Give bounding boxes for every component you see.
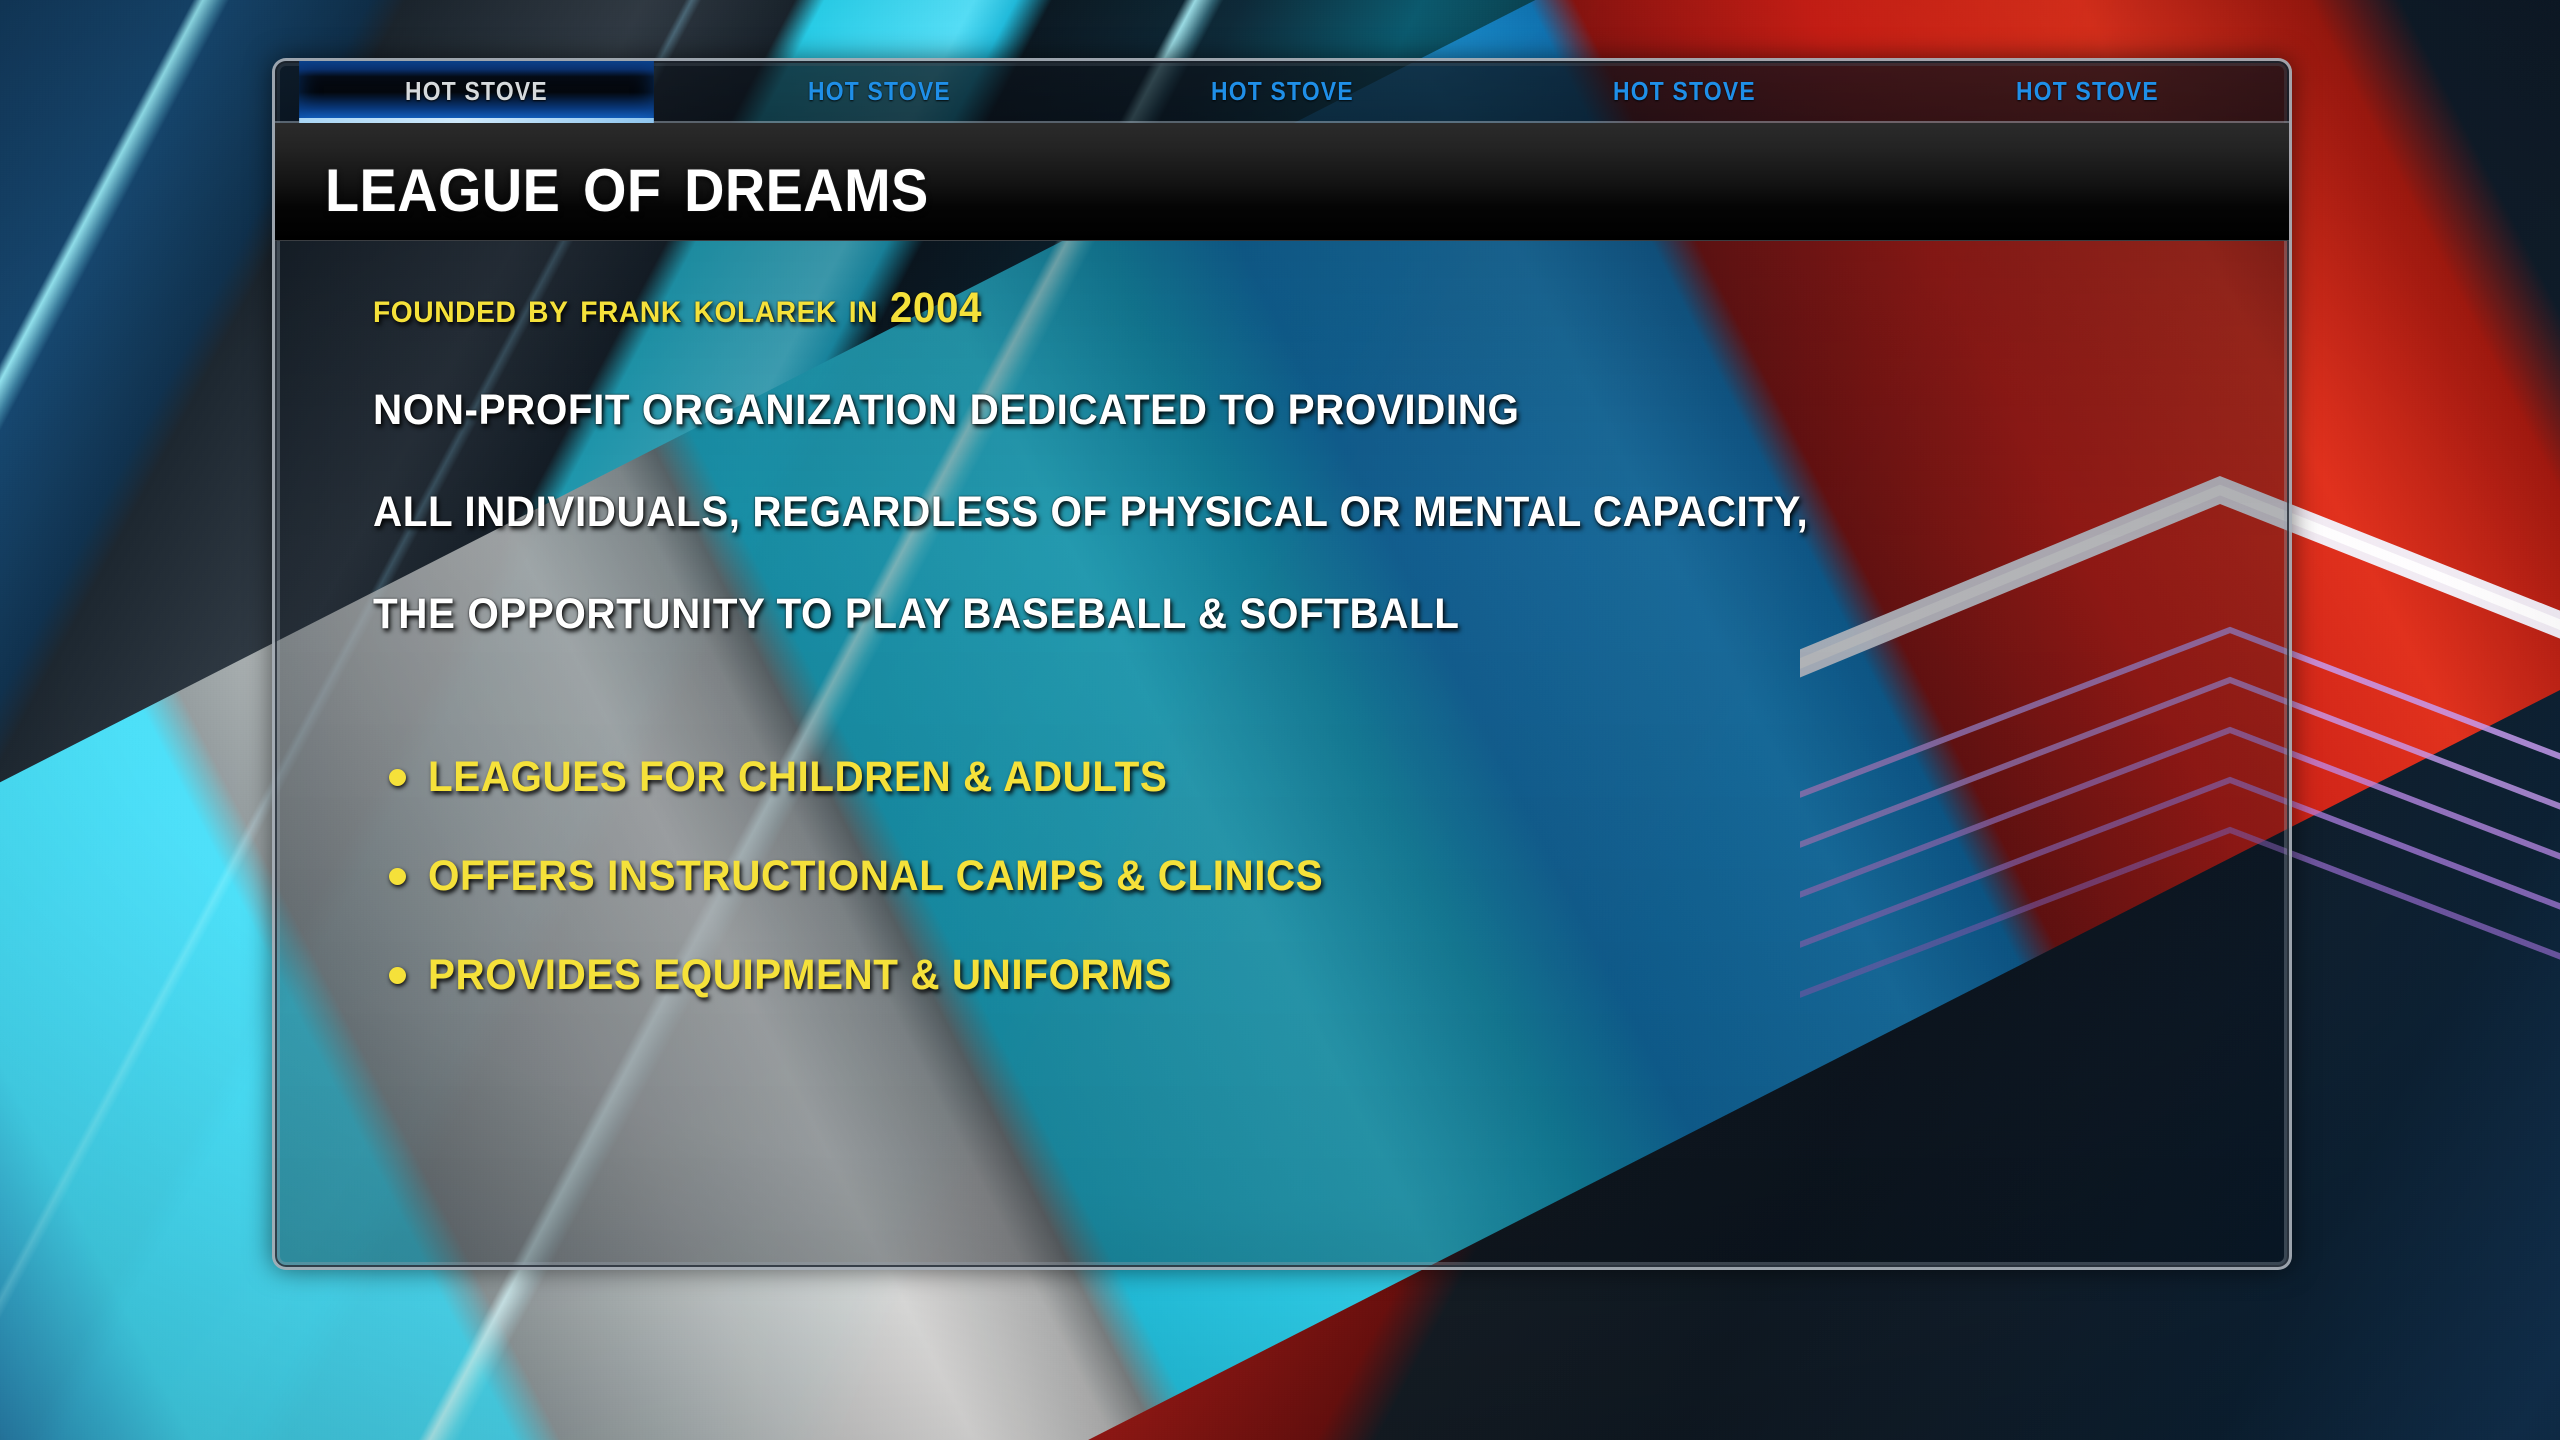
bullet-list: LEAGUES FOR CHILDREN & ADULTS OFFERS INS… [373, 756, 2289, 997]
bullet-dot-icon [389, 868, 406, 885]
description-line-1: NON-PROFIT ORGANIZATION DEDICATED TO PRO… [373, 389, 2174, 432]
info-panel: HOT STOVE HOT STOVE HOT STOVE HOT STOVE … [272, 58, 2292, 1270]
title-band: LEAGUE OF DREAMS [275, 123, 2289, 241]
bullet-label: OFFERS INSTRUCTIONAL CAMPS & CLINICS [428, 855, 1323, 898]
tab-label: HOT STOVE [2016, 76, 2159, 107]
bullet-label: LEAGUES FOR CHILDREN & ADULTS [428, 756, 1167, 799]
description-line-3: THE OPPORTUNITY TO PLAY BASEBALL & SOFTB… [373, 593, 2174, 636]
tab-hot-stove-1[interactable]: HOT STOVE [299, 61, 653, 121]
founded-line: FOUNDED BY FRANK KOLAREK IN 2004 [373, 287, 2174, 330]
tab-label: HOT STOVE [808, 76, 951, 107]
tab-label: HOT STOVE [1613, 76, 1756, 107]
tab-label: HOT STOVE [405, 76, 548, 107]
bullet-dot-icon [389, 769, 406, 786]
panel-body: FOUNDED BY FRANK KOLAREK IN 2004 NON-PRO… [275, 241, 2289, 997]
description-line-2: ALL INDIVIDUALS, REGARDLESS OF PHYSICAL … [373, 491, 2174, 534]
tab-hot-stove-4[interactable]: HOT STOVE [1508, 61, 1862, 121]
tab-hot-stove-5[interactable]: HOT STOVE [1910, 61, 2264, 121]
list-item: LEAGUES FOR CHILDREN & ADULTS [389, 756, 2289, 799]
tabstrip: HOT STOVE HOT STOVE HOT STOVE HOT STOVE … [275, 61, 2289, 123]
bullet-dot-icon [389, 967, 406, 984]
tab-label: HOT STOVE [1211, 76, 1354, 107]
bullet-label: PROVIDES EQUIPMENT & UNIFORMS [428, 954, 1172, 997]
page-title: LEAGUE OF DREAMS [325, 139, 929, 225]
broadcast-stage: HOT STOVE HOT STOVE HOT STOVE HOT STOVE … [0, 0, 2560, 1440]
list-item: OFFERS INSTRUCTIONAL CAMPS & CLINICS [389, 855, 2289, 898]
list-item: PROVIDES EQUIPMENT & UNIFORMS [389, 954, 2289, 997]
tab-hot-stove-3[interactable]: HOT STOVE [1105, 61, 1459, 121]
tab-hot-stove-2[interactable]: HOT STOVE [702, 61, 1056, 121]
